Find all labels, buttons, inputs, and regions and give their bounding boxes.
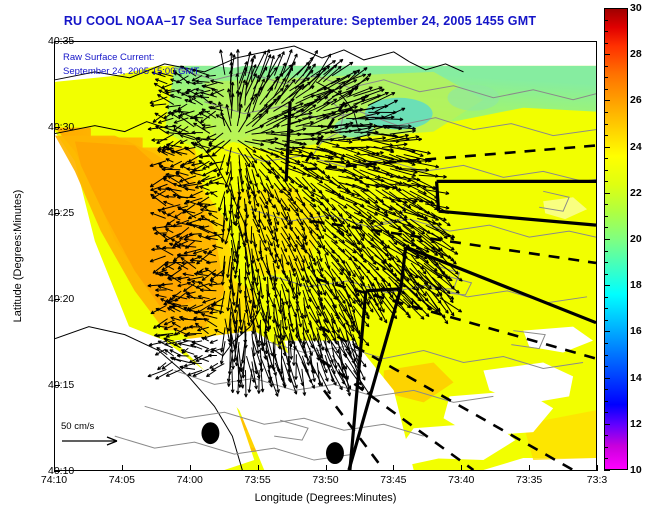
- current-vector-arrow: [208, 213, 217, 219]
- annotation-line-1: Raw Surface Current:: [63, 51, 199, 65]
- current-vector-arrow: [184, 238, 202, 242]
- y-tick-mark: [54, 299, 60, 300]
- colorbar-minor-tick: [604, 43, 608, 44]
- current-vector-arrow: [280, 262, 287, 279]
- current-vector-arrow: [245, 125, 264, 133]
- colorbar-minor-tick: [604, 297, 608, 298]
- current-vector-arrow: [201, 314, 217, 319]
- colorbar-minor-tick: [604, 193, 608, 194]
- colorbar-tick-label: 28: [630, 48, 642, 60]
- current-vector-arrow: [310, 233, 321, 247]
- current-vector-arrow: [220, 50, 225, 75]
- colorbar-minor-tick: [604, 331, 608, 332]
- current-vector-arrow: [163, 178, 173, 184]
- colorbar-tick-label: 18: [630, 279, 642, 291]
- current-vector-arrow: [281, 155, 300, 163]
- current-vector-arrow: [165, 125, 173, 128]
- current-vector-arrow: [275, 204, 279, 215]
- figure-title: RU COOL NOAA–17 Sea Surface Temperature:…: [0, 14, 600, 28]
- current-vector-arrow: [303, 96, 321, 112]
- scale-arrow-icon: [61, 433, 123, 447]
- current-vector-arrow: [244, 370, 247, 397]
- current-vector-arrow: [150, 97, 167, 104]
- current-vector-arrow: [148, 369, 167, 376]
- current-vector-arrow: [245, 141, 264, 146]
- colorbar-minor-tick: [604, 227, 608, 228]
- colorbar-tick-label: 24: [630, 141, 642, 153]
- y-tick-label: 40:20: [48, 293, 74, 305]
- y-tick-label: 40:30: [48, 121, 74, 133]
- current-vector-arrow: [155, 79, 167, 84]
- colorbar-minor-tick: [604, 239, 608, 240]
- current-vector-arrow: [332, 262, 343, 275]
- current-vector-arrow: [236, 90, 239, 111]
- current-vector-arrow: [178, 104, 187, 110]
- current-vector-arrow: [183, 273, 194, 276]
- current-vector-arrow: [303, 348, 315, 374]
- current-vector-arrow: [261, 191, 268, 204]
- colorbar-minor-tick: [604, 308, 608, 309]
- current-vector-arrow: [210, 192, 217, 197]
- colorbar-minor-tick: [604, 401, 608, 402]
- current-vector-arrow: [200, 95, 211, 104]
- current-vector-arrow: [231, 369, 234, 393]
- current-vector-arrow: [260, 176, 266, 193]
- current-vector-arrow: [338, 299, 353, 320]
- current-annotation: Raw Surface Current: September 24, 2005 …: [63, 51, 199, 79]
- x-tick-mark: [190, 465, 191, 471]
- current-vector-arrow: [227, 256, 231, 278]
- x-tick-label: 73:50: [312, 474, 338, 486]
- current-vector-arrow: [161, 283, 173, 286]
- current-vector-arrow: [209, 311, 217, 314]
- current-vector-arrow: [181, 350, 194, 355]
- colorbar-tick-label: 26: [630, 94, 642, 106]
- current-vector-arrow: [161, 84, 173, 89]
- current-vector-arrow: [389, 225, 413, 236]
- colorbar-minor-tick: [604, 412, 608, 413]
- current-vector-arrow: [426, 225, 451, 236]
- current-vector-arrow: [227, 291, 231, 312]
- current-vector-arrow: [178, 284, 188, 287]
- current-vector-arrow: [164, 264, 174, 269]
- current-vector-arrow: [296, 334, 307, 358]
- x-axis-label: Longitude (Degrees:Minutes): [54, 492, 597, 504]
- current-vector-arrow: [209, 101, 216, 104]
- current-vector-arrow: [165, 349, 174, 356]
- current-vector-arrow: [221, 112, 231, 132]
- current-vector-arrow: [202, 124, 210, 127]
- current-vector-arrow: [375, 118, 403, 121]
- current-vector-arrow: [281, 168, 294, 183]
- current-vector-arrow: [303, 197, 316, 207]
- x-tick-label: 74:00: [177, 474, 203, 486]
- colorbar-minor-tick: [604, 424, 608, 425]
- x-tick-mark: [597, 465, 598, 471]
- current-vector-arrow: [174, 213, 181, 218]
- current-vector-arrow: [192, 170, 203, 173]
- current-vector-arrow: [227, 362, 230, 387]
- current-vector-arrow: [211, 364, 224, 371]
- current-vector-arrow: [219, 291, 224, 314]
- colorbar-minor-tick: [604, 181, 608, 182]
- current-vector-arrow: [207, 134, 217, 139]
- current-vector-arrow: [208, 354, 217, 357]
- colorbar-minor-tick: [604, 112, 608, 113]
- current-vector-arrow: [295, 354, 298, 379]
- current-vector-arrow: [228, 211, 231, 232]
- colorbar-minor-tick: [604, 447, 608, 448]
- current-vector-arrow: [150, 256, 166, 262]
- x-tick-label: 74:05: [109, 474, 135, 486]
- colorbar-tick-label: 20: [630, 233, 642, 245]
- colorbar-minor-tick: [604, 389, 608, 390]
- current-vector-arrow: [250, 226, 253, 244]
- current-vector-arrow: [151, 104, 167, 107]
- current-vector-arrow: [150, 161, 166, 167]
- current-vector-arrow: [239, 114, 251, 133]
- current-vector-arrow: [275, 85, 288, 105]
- colorbar-minor-tick: [604, 170, 608, 171]
- current-vector-arrow: [204, 334, 216, 338]
- current-vector-arrow: [331, 140, 353, 143]
- colorbar-minor-tick: [604, 20, 608, 21]
- current-vector-arrow: [192, 342, 209, 349]
- current-vector-arrow: [403, 291, 420, 308]
- current-vector-arrow: [153, 262, 167, 273]
- current-vector-arrow: [202, 85, 218, 90]
- current-vector-arrow: [419, 175, 447, 178]
- x-tick-label: 73:55: [244, 474, 270, 486]
- current-vector-arrow: [332, 62, 353, 76]
- current-vector-arrow: [199, 155, 217, 158]
- colorbar-tick-label: 16: [630, 325, 642, 337]
- x-tick-label: 73:3: [587, 474, 607, 486]
- y-tick-label: 40:35: [48, 35, 74, 47]
- current-vector-arrow: [259, 218, 265, 230]
- current-vector-arrow: [180, 135, 195, 140]
- y-tick-label: 40:15: [48, 379, 74, 391]
- current-vector-arrow: [225, 205, 228, 222]
- current-vector-arrow: [155, 294, 166, 297]
- colorbar-tick-label: 30: [630, 2, 642, 14]
- current-vector-arrow: [215, 330, 224, 335]
- colorbar-minor-tick: [604, 8, 608, 9]
- x-tick-mark: [529, 465, 530, 471]
- y-axis-label: Latitude (Degrees:Minutes): [12, 146, 24, 366]
- current-vector-arrow: [172, 322, 180, 327]
- current-vector-arrow: [226, 156, 230, 175]
- current-vector-arrow: [163, 246, 175, 249]
- colorbar-minor-tick: [604, 100, 608, 101]
- colorbar-minor-tick: [604, 66, 608, 67]
- current-vector-arrow: [261, 67, 277, 90]
- colorbar-minor-tick: [604, 285, 608, 286]
- current-vector-arrow: [361, 137, 386, 141]
- colorbar-minor-tick: [604, 31, 608, 32]
- y-tick-mark: [54, 41, 60, 42]
- current-vector-arrow: [155, 289, 166, 292]
- colorbar-minor-tick: [604, 343, 608, 344]
- colorbar-minor-tick: [604, 274, 608, 275]
- colorbar-minor-tick: [604, 54, 608, 55]
- current-vector-arrow: [239, 67, 247, 89]
- x-tick-mark: [461, 465, 462, 471]
- current-vector-arrow: [179, 176, 196, 182]
- colorbar-tick-label: 10: [630, 464, 642, 476]
- current-vector-arrow: [200, 209, 217, 213]
- y-tick-mark: [54, 213, 60, 214]
- current-vector-arrow: [210, 340, 218, 343]
- current-vector-arrow: [177, 354, 189, 357]
- current-vector-arrow: [231, 93, 234, 118]
- colorbar-minor-tick: [604, 320, 608, 321]
- current-vector-arrow: [192, 131, 203, 134]
- current-vector-arrow: [236, 49, 239, 75]
- current-vector-arrow: [248, 369, 252, 393]
- current-vector-arrow: [252, 191, 259, 207]
- current-vector-arrow: [166, 369, 181, 376]
- colorbar-minor-tick: [604, 355, 608, 356]
- colorbar-minor-tick: [604, 378, 608, 379]
- current-vector-arrow: [190, 171, 204, 175]
- colorbar-minor-tick: [604, 262, 608, 263]
- current-vector-arrow: [206, 75, 216, 78]
- current-vector-arrow: [195, 88, 203, 91]
- current-vector-arrow: [192, 362, 202, 365]
- colorbar-minor-tick: [604, 135, 608, 136]
- y-tick-label: 40:10: [48, 465, 74, 477]
- current-vector-arrow: [164, 326, 173, 330]
- y-tick-label: 40:25: [48, 207, 74, 219]
- current-vector-arrow: [185, 188, 195, 191]
- current-vector-arrow: [206, 370, 216, 377]
- colorbar-minor-tick: [604, 251, 608, 252]
- current-vector-arrow: [157, 134, 174, 143]
- current-vector-arrow: [260, 148, 279, 157]
- current-vector-arrow: [383, 233, 406, 246]
- y-tick-mark: [54, 385, 60, 386]
- current-vector-arrow: [252, 110, 268, 126]
- map-plot-area[interactable]: Raw Surface Current: September 24, 2005 …: [54, 41, 597, 471]
- x-tick-mark: [122, 465, 123, 471]
- current-vector-arrow: [266, 235, 272, 247]
- colorbar-minor-tick: [604, 77, 608, 78]
- current-vector-arrow: [353, 326, 369, 346]
- current-vector-arrow: [181, 318, 195, 321]
- current-vector-arrow: [170, 95, 181, 99]
- x-tick-mark: [258, 465, 259, 471]
- colorbar-minor-tick: [604, 89, 608, 90]
- surface-current-vector-layer: [55, 42, 596, 470]
- colorbar-minor-tick: [604, 158, 608, 159]
- current-vector-arrow: [297, 255, 304, 271]
- current-vector-arrow: [184, 334, 196, 337]
- current-vector-arrow: [204, 318, 217, 327]
- current-vector-arrow: [209, 283, 224, 286]
- colorbar-tick-label: 12: [630, 418, 642, 430]
- current-vector-arrow: [254, 277, 260, 296]
- current-vector-arrow: [390, 130, 416, 134]
- current-vector-arrow: [375, 225, 395, 237]
- current-vector-arrow: [302, 162, 317, 166]
- current-vector-arrow: [318, 190, 329, 202]
- current-vector-arrow: [190, 259, 202, 262]
- current-vector-arrow: [206, 261, 217, 264]
- current-vector-arrow: [288, 313, 294, 332]
- colorbar-minor-tick: [604, 204, 608, 205]
- current-vector-arrow: [215, 182, 224, 185]
- current-vector-arrow: [212, 245, 223, 248]
- colorbar-minor-tick: [604, 435, 608, 436]
- x-tick-mark: [393, 465, 394, 471]
- current-vector-arrow: [282, 227, 290, 240]
- current-vector-arrow: [279, 291, 282, 314]
- current-vector-arrow: [375, 255, 392, 267]
- current-vector-arrow: [275, 176, 286, 191]
- current-vector-arrow: [200, 186, 210, 190]
- y-tick-mark: [54, 127, 60, 128]
- current-vector-arrow: [217, 154, 224, 176]
- annotation-line-2: September 24, 2005 15:00 GMT: [63, 65, 199, 79]
- current-vector-arrow: [190, 191, 203, 197]
- current-vector-arrow: [196, 80, 210, 83]
- current-vector-arrow: [316, 147, 336, 155]
- x-tick-mark: [326, 465, 327, 471]
- colorbar-minor-tick: [604, 124, 608, 125]
- current-vector-arrow: [261, 363, 264, 392]
- current-vector-arrow: [302, 177, 315, 192]
- sst-map-figure: RU COOL NOAA–17 Sea Surface Temperature:…: [0, 0, 651, 518]
- x-tick-label: 73:45: [380, 474, 406, 486]
- colorbar-tick-label: 14: [630, 372, 642, 384]
- current-vector-arrow: [187, 277, 203, 281]
- colorbar-minor-tick: [604, 470, 608, 471]
- current-vector-arrow: [210, 280, 217, 283]
- current-vector-arrow: [211, 303, 224, 306]
- current-vector-arrow: [208, 248, 216, 253]
- colorbar-minor-tick: [604, 216, 608, 217]
- current-vector-arrow: [296, 183, 307, 189]
- x-tick-label: 73:40: [448, 474, 474, 486]
- current-vector-arrow: [332, 204, 343, 217]
- colorbar-minor-tick: [604, 366, 608, 367]
- current-vector-arrow: [207, 237, 218, 240]
- current-vector-arrow: [191, 256, 202, 261]
- current-vector-arrow: [368, 190, 384, 203]
- current-vector-arrow: [165, 105, 180, 108]
- scale-label: 50 cm/s: [61, 421, 123, 432]
- current-vector-arrow: [396, 263, 419, 278]
- current-vector-arrow: [381, 134, 409, 141]
- colorbar-minor-tick: [604, 458, 608, 459]
- current-vector-arrow: [165, 229, 173, 233]
- current-vector-arrow: [166, 159, 173, 162]
- current-vector-arrow: [200, 289, 216, 292]
- colorbar-tick-label: 22: [630, 187, 642, 199]
- velocity-scale-legend: 50 cm/s: [61, 421, 123, 452]
- y-tick-mark: [54, 471, 60, 472]
- current-vector-arrow: [234, 261, 238, 278]
- current-vector-arrow: [375, 100, 398, 112]
- current-vector-arrow: [279, 320, 282, 345]
- colorbar-minor-tick: [604, 147, 608, 148]
- current-vector-arrow: [296, 204, 303, 213]
- current-vector-arrow: [238, 220, 243, 237]
- x-tick-label: 73:35: [516, 474, 542, 486]
